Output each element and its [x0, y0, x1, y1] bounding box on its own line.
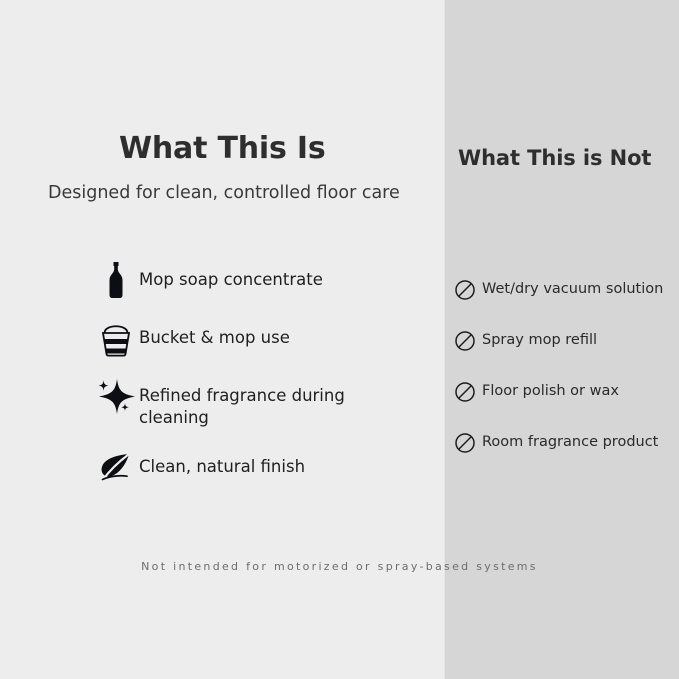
list-item-label: Refined fragrance during cleaning	[139, 378, 369, 429]
prohibited-icon	[454, 429, 482, 456]
benefits-list: Mop soap concentrate Bucket & mop use	[93, 262, 423, 507]
list-item: Wet/dry vacuum solution	[454, 276, 679, 303]
prohibited-icon	[454, 276, 482, 303]
leaf-icon	[93, 449, 139, 487]
what-this-is-panel: What This Is Designed for clean, control…	[0, 0, 444, 679]
page-title: What This Is	[119, 131, 326, 166]
list-item: Floor polish or wax	[454, 378, 679, 405]
page-subtitle: Designed for clean, controlled floor car…	[48, 183, 400, 203]
list-item: Refined fragrance during cleaning	[93, 378, 423, 429]
panel-divider	[443, 0, 445, 679]
exclusions-list: Wet/dry vacuum solution Spray mop refill	[454, 276, 679, 480]
sparkle-icon	[93, 378, 139, 416]
list-item: Bucket & mop use	[93, 320, 423, 358]
comparison-infographic: What This Is Designed for clean, control…	[0, 0, 679, 679]
prohibited-icon	[454, 378, 482, 405]
footer-disclaimer: Not intended for motorized or spray-base…	[0, 560, 679, 573]
bottle-icon	[93, 262, 139, 300]
list-item: Mop soap concentrate	[93, 262, 423, 300]
what-this-is-not-panel: What This is Not Wet/dry vacuum solution	[444, 0, 679, 679]
list-item-label: Bucket & mop use	[139, 320, 290, 349]
list-item-label: Floor polish or wax	[482, 383, 619, 400]
panel-title: What This is Not	[458, 146, 651, 170]
list-item-label: Spray mop refill	[482, 332, 597, 349]
list-item-label: Wet/dry vacuum solution	[482, 281, 663, 298]
list-item-label: Mop soap concentrate	[139, 262, 323, 291]
bucket-icon	[93, 320, 139, 358]
prohibited-icon	[454, 327, 482, 354]
list-item: Room fragrance product	[454, 429, 679, 456]
list-item: Clean, natural finish	[93, 449, 423, 487]
list-item-label: Room fragrance product	[482, 434, 658, 451]
list-item: Spray mop refill	[454, 327, 679, 354]
list-item-label: Clean, natural finish	[139, 449, 305, 478]
